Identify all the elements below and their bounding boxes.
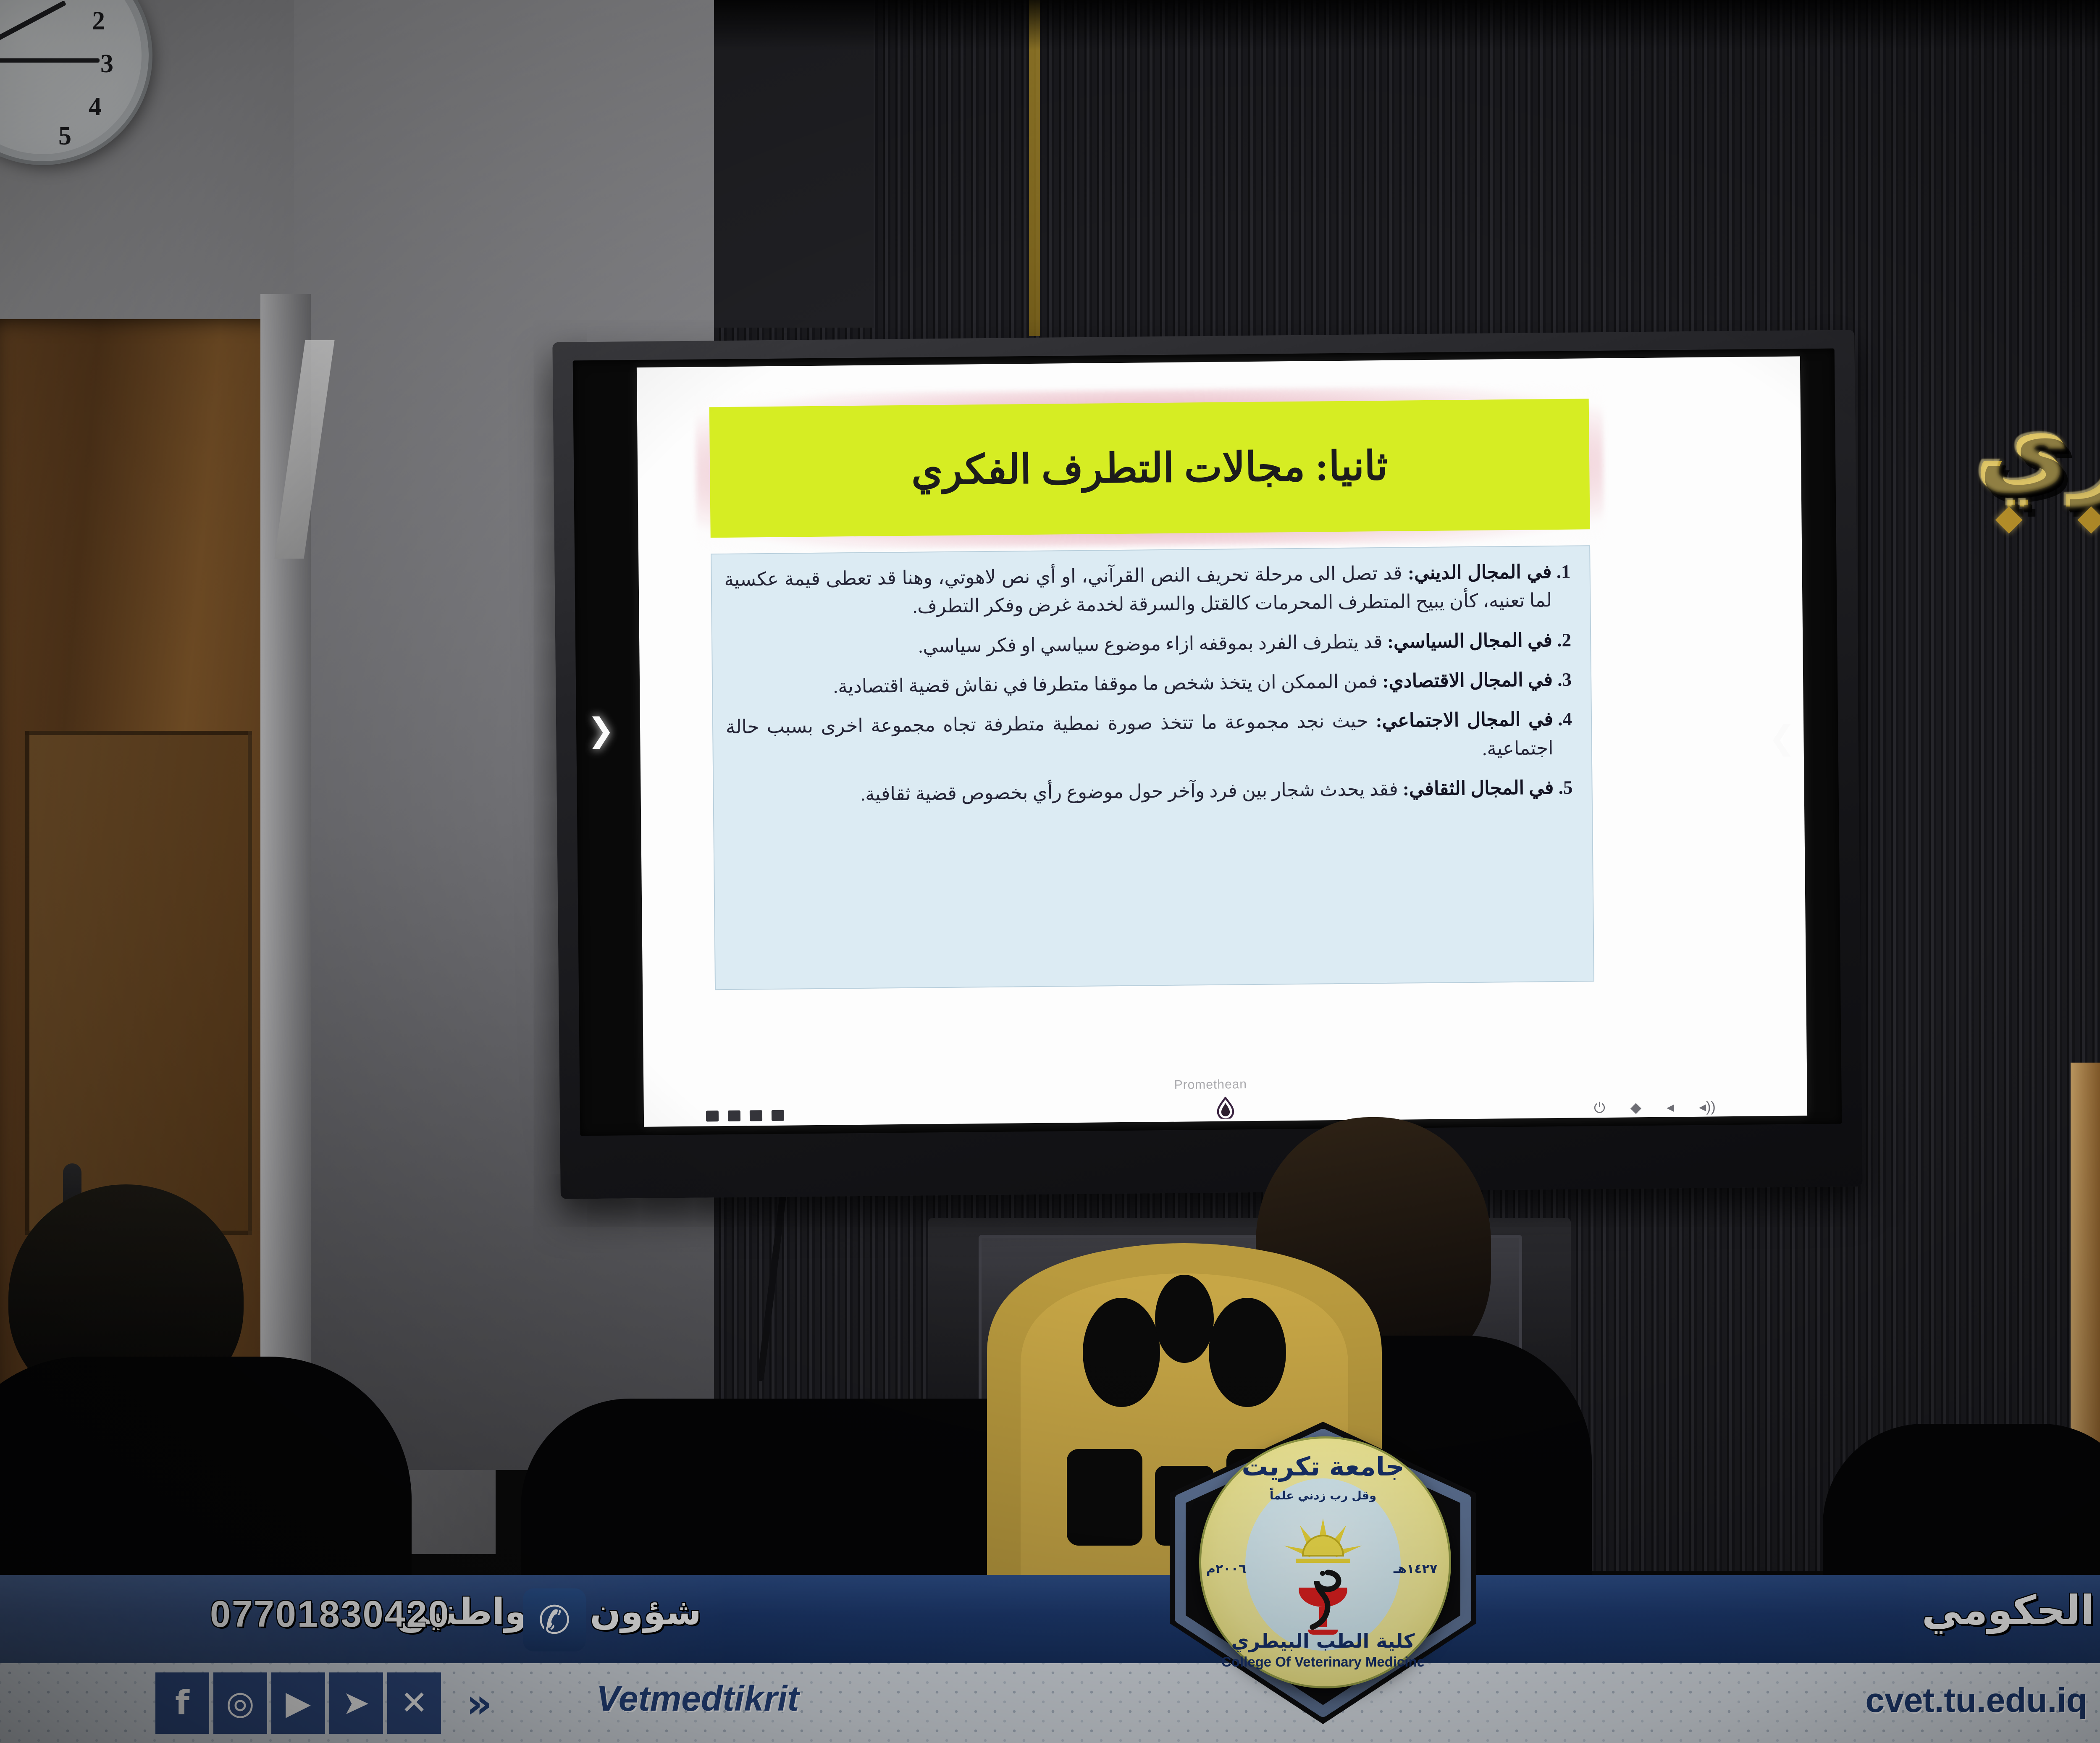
- slide-list-item: في المجال الاجتماعي: حيث نجد مجموعة ما ت…: [726, 705, 1554, 770]
- slide-item-text: فقد يحدث شجار بين فرد وآخر حول موضوع رأي…: [861, 779, 1403, 805]
- volume-down-button[interactable]: ◂: [1667, 1100, 1674, 1114]
- slide-item-lead: في المجال الاجتماعي:: [1375, 709, 1553, 731]
- display-right-controls[interactable]: ⏻ ◆ ◂ ◂)): [1480, 1097, 1716, 1118]
- logo-inner-disc: [1245, 1478, 1401, 1651]
- chevron-right-icon[interactable]: ❯: [587, 714, 614, 747]
- sun-icon: [1284, 1518, 1362, 1561]
- telegram-icon[interactable]: ➤: [329, 1672, 383, 1734]
- slide-list-item: في المجال الثقافي: فقد يحدث شجار بين فرد…: [726, 773, 1554, 810]
- clock-number-4: 4: [89, 92, 102, 122]
- door-panel: [25, 731, 252, 1235]
- ceiling-shadow: [714, 0, 2100, 50]
- diamond-ornament: [1995, 506, 2022, 533]
- clock-number-3: 3: [100, 49, 113, 79]
- department-label: شعبة الاعلام والاتصال الحكومي: [1922, 1587, 2100, 1634]
- screenshot-root: ❧ 1 2 3 4 5 ـب البيطري ثانيا: مجالات الت…: [0, 0, 2100, 1743]
- presentation-slide: ثانيا: مجالات التطرف الفكري في المجال ال…: [637, 356, 1807, 1127]
- footer-banner: شؤون المواطنين ✆ 07701830420 شعبة الاعلا…: [0, 1575, 2100, 1743]
- promethean-flame-icon: [1216, 1097, 1235, 1118]
- audience-silhouette: [1823, 1424, 2100, 1600]
- phone-icon: ✆: [523, 1588, 586, 1651]
- bowl-of-hygieia-icon: [1299, 1571, 1347, 1635]
- logo-year-hijri: ١٤٢٧هـ: [1394, 1562, 1437, 1576]
- display-left-controls[interactable]: [706, 1107, 849, 1123]
- display-brand-label: Promethean: [1174, 1077, 1247, 1092]
- social-icons-row[interactable]: f ◎ ▶ ➤ ✕: [155, 1672, 441, 1734]
- slide-list-item: في المجال الديني: قد تصل الى مرحلة تحريف…: [724, 557, 1552, 623]
- clock-number-2: 2: [92, 6, 105, 36]
- diamond-ornament: [2077, 506, 2100, 533]
- slide-item-text: قد يتطرف الفرد بموقفه ازاء موضوع سياسي ا…: [918, 631, 1387, 656]
- slide-item-lead: في المجال السياسي:: [1387, 630, 1553, 652]
- website-url[interactable]: cvet.tu.edu.iq: [1865, 1681, 2087, 1720]
- flame-indicator-icon: ◆: [1630, 1100, 1641, 1115]
- slide-title-box: ثانيا: مجالات التطرف الفكري: [709, 399, 1590, 538]
- control-button[interactable]: [750, 1110, 762, 1121]
- logo-emblem: [1245, 1478, 1401, 1651]
- phone-number[interactable]: 07701830420: [210, 1593, 450, 1635]
- power-button[interactable]: ⏻: [1594, 1101, 1605, 1115]
- slide-item-lead: في المجال الثقافي:: [1403, 777, 1554, 799]
- social-handle[interactable]: Vetmedtikrit: [596, 1678, 799, 1719]
- slide-list-item: في المجال الاقتصادي: فمن الممكن ان يتخذ …: [725, 665, 1553, 702]
- slide-item-lead: في المجال الديني:: [1408, 561, 1552, 583]
- slide-body-box: في المجال الديني: قد تصل الى مرحلة تحريف…: [711, 545, 1594, 990]
- volume-up-button[interactable]: ◂)): [1699, 1100, 1716, 1114]
- gold-wall-sign-text: ـب البيطري: [1974, 384, 2100, 507]
- logo-verse: وقل رب زدني علماً: [1245, 1489, 1401, 1502]
- gold-sign-diamonds: [1999, 510, 2100, 544]
- social-chevrons-icon: »: [466, 1680, 486, 1727]
- clock-hour-hand: [0, 0, 66, 44]
- logo-year-gregorian: ٢٠٠٦م: [1206, 1562, 1246, 1576]
- logo-college-name-arabic: كلية الطب البيطري: [1199, 1630, 1447, 1652]
- control-button[interactable]: [706, 1110, 719, 1121]
- slide-item-lead: في المجال الاقتصادي:: [1382, 669, 1553, 692]
- slide-title: ثانيا: مجالات التطرف الفكري: [911, 442, 1388, 494]
- logo-college-name-english: College Of Veterinary Medicine: [1199, 1654, 1447, 1670]
- instagram-icon[interactable]: ◎: [213, 1672, 267, 1734]
- logo-university-name: جامعة تكريت: [1199, 1451, 1447, 1482]
- facebook-icon[interactable]: f: [155, 1672, 209, 1734]
- clock-number-5: 5: [58, 121, 71, 151]
- interactive-display[interactable]: ثانيا: مجالات التطرف الفكري في المجال ال…: [552, 330, 1862, 1199]
- wall-gold-strip: [1029, 0, 1040, 336]
- clock-minute-hand: [0, 58, 100, 63]
- display-screen[interactable]: ثانيا: مجالات التطرف الفكري في المجال ال…: [573, 349, 1842, 1136]
- slide-list-item: في المجال السياسي: قد يتطرف الفرد بموقفه…: [725, 626, 1553, 662]
- youtube-icon[interactable]: ▶: [271, 1672, 325, 1734]
- x-twitter-icon[interactable]: ✕: [387, 1672, 441, 1734]
- control-button[interactable]: [772, 1110, 784, 1121]
- control-button[interactable]: [728, 1110, 740, 1121]
- slide-bullet-list: في المجال الديني: قد تصل الى مرحلة تحريف…: [724, 557, 1578, 810]
- chevron-left-icon[interactable]: ❮: [1768, 722, 1795, 754]
- slide-item-text: فمن الممكن ان يتخذ شخص ما موقفا متطرفا ف…: [833, 671, 1383, 697]
